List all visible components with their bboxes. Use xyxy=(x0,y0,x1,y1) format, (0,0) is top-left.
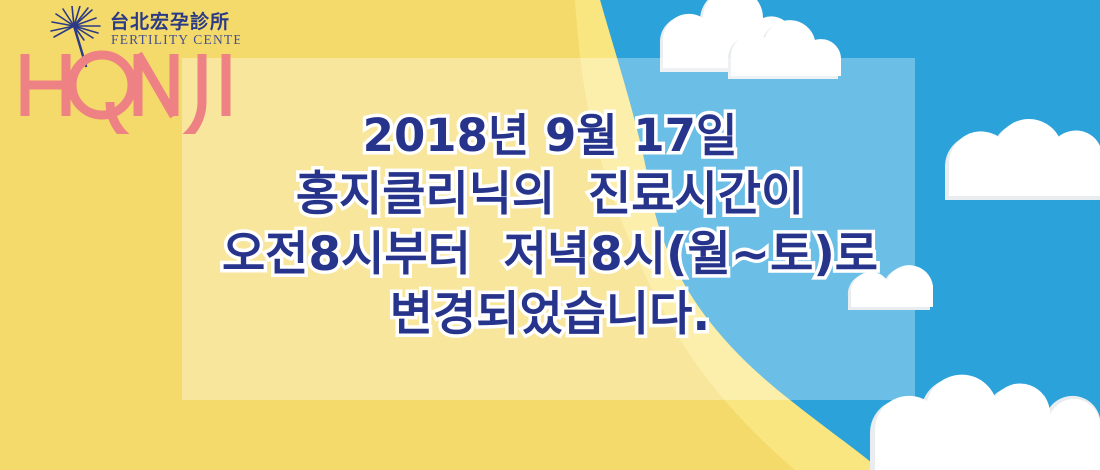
message-line-2: 홍지클리닉의 진료시간이 홍지클리닉의 진료시간이 xyxy=(150,170,950,230)
message-line-3: 오전8시부터 저녁8시(월~토)로 오전8시부터 저녁8시(월~토)로 xyxy=(150,230,950,290)
logo-english-name: FERTILITY CENTER xyxy=(111,32,240,47)
message-line-1: 2018년 9월 17일 2018년 9월 17일 xyxy=(150,112,950,170)
logo-chinese-name: 台北宏孕診所 xyxy=(110,10,230,33)
announcement-message: 2018년 9월 17일 2018년 9월 17일 홍지클리닉의 진료시간이 홍… xyxy=(150,112,950,350)
message-line-4: 변경되었습니다. 변경되었습니다. xyxy=(150,290,950,350)
announcement-banner: 台北宏孕診所 FERTILITY CENTER HO xyxy=(0,0,1100,470)
